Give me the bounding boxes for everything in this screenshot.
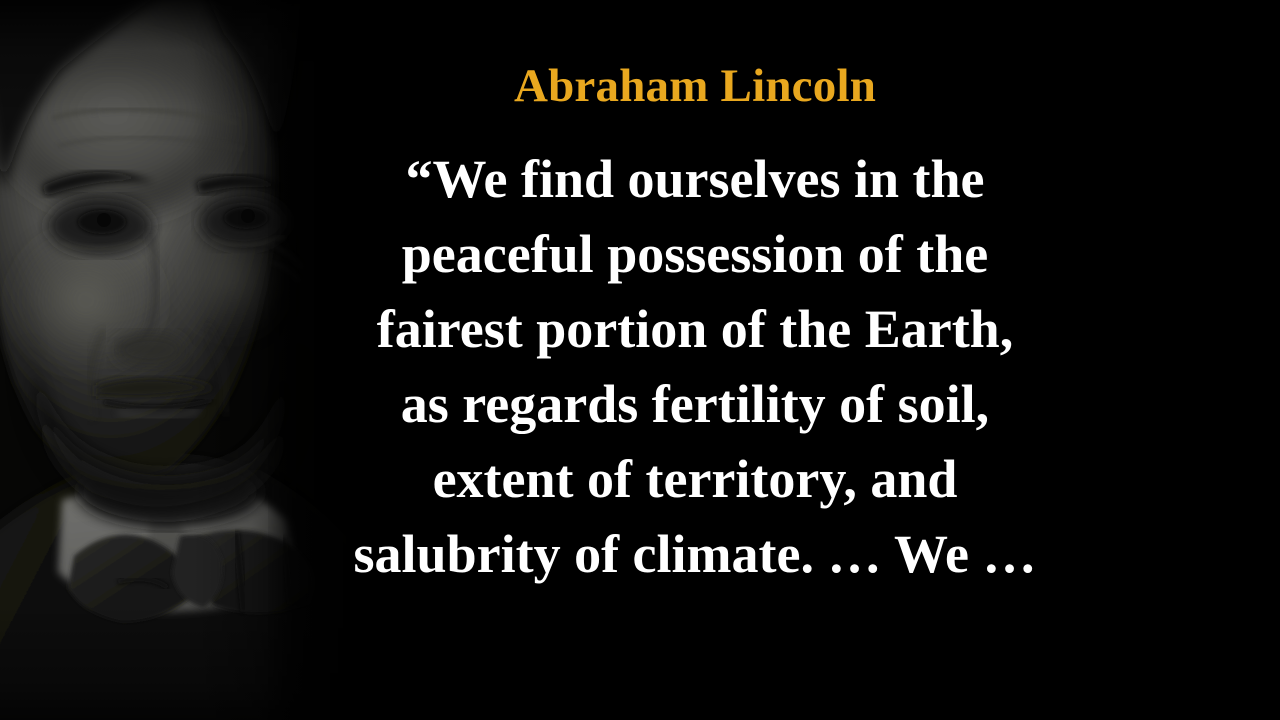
quote-card: Abraham Lincoln “We find ourselves in th… (0, 0, 1280, 720)
quote-line: salubrity of climate. … We … (300, 517, 1090, 592)
quote-line: “We find ourselves in the (300, 142, 1090, 217)
quote-text: “We find ourselves in the peaceful posse… (300, 142, 1090, 592)
quote-line: as regards fertility of soil, (300, 367, 1090, 442)
text-content: Abraham Lincoln “We find ourselves in th… (300, 0, 1090, 720)
quote-line: extent of territory, and (300, 442, 1090, 517)
quote-line: fairest portion of the Earth, (300, 292, 1090, 367)
quote-line: peaceful possession of the (300, 217, 1090, 292)
attribution-name: Abraham Lincoln (300, 62, 1090, 111)
